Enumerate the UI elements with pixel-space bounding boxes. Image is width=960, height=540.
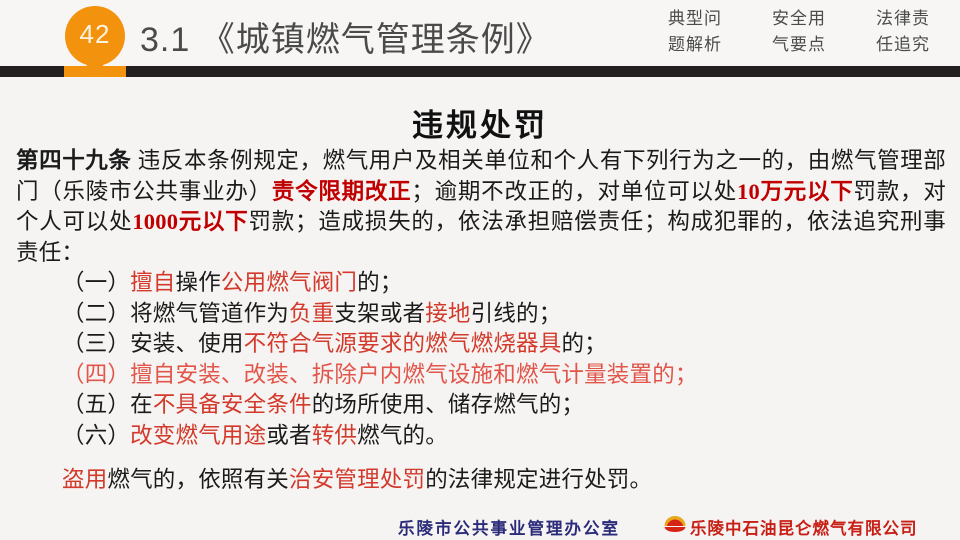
header-tab-group: 典型问 题解析 安全用 气要点 法律责 任追究 — [652, 6, 946, 58]
violation-item: （六）改变燃气用途或者转供燃气的。 — [16, 421, 946, 452]
violation-item-segment: 不符合气源要求的燃气燃烧器具 — [244, 331, 562, 356]
violation-item-segment: 操作 — [176, 270, 221, 295]
closing-statement: 盗用燃气的，依照有关治安管理处罚的法律规定进行处罚。 — [16, 465, 946, 496]
violation-item: （三）安装、使用不符合气源要求的燃气燃烧器具的； — [16, 329, 946, 360]
violation-item-segment: 的； — [357, 270, 402, 295]
article-paragraph: 第四十九条 违反本条例规定，燃气用户及相关单位和个人有下列行为之一的，由燃气管理… — [16, 146, 946, 268]
slide-body: 第四十九条 违反本条例规定，燃气用户及相关单位和个人有下列行为之一的，由燃气管理… — [16, 146, 946, 496]
violation-item: （一）擅自操作公用燃气阀门的； — [16, 268, 946, 299]
violation-item-segment: 擅自 — [130, 270, 175, 295]
closing-segment: 的法律规定进行处罚。 — [425, 467, 652, 492]
violation-item: （四）擅自安装、改装、拆除户内燃气设施和燃气计量装置的； — [16, 360, 946, 391]
slide-number-pin-icon: 42 — [65, 6, 125, 68]
violation-item-segment: 支架或者 — [334, 301, 425, 326]
violation-item-segment: 安装、使用 — [130, 331, 244, 356]
tab-typical-questions-line1: 典型问 — [652, 6, 738, 32]
violation-item-segment: 在 — [130, 392, 153, 417]
article-seg3: ；逾期不改正的，对单位可以处 — [411, 179, 737, 204]
tab-legal-liability-line1: 法律责 — [860, 6, 946, 32]
violation-item-number: （二） — [62, 301, 130, 326]
closing-segment: 盗用 — [62, 467, 107, 492]
violation-item-number: （三） — [62, 331, 130, 356]
violation-item-segment: 的； — [561, 331, 606, 356]
tab-legal-liability-line2: 任追究 — [860, 32, 946, 58]
page-title: 3.1 《城镇燃气管理条例》 — [140, 12, 551, 61]
petrochina-logo-icon — [663, 514, 687, 534]
violation-item-number: （五） — [62, 392, 130, 417]
slide-header: 42 3.1 《城镇燃气管理条例》 典型问 题解析 安全用 气要点 法律责 任追… — [0, 0, 960, 77]
tab-typical-questions-line2: 题解析 — [652, 32, 738, 58]
violation-item-segment: 改变燃气用途 — [130, 423, 266, 448]
violation-item-segment: 燃气的。 — [357, 423, 448, 448]
violation-item-segment: 不具备安全条件 — [153, 392, 312, 417]
violation-item-segment: 公用燃气阀门 — [221, 270, 357, 295]
tab-legal-liability[interactable]: 法律责 任追究 — [860, 6, 946, 58]
violation-item-number: （六） — [62, 423, 130, 448]
violation-item: （五）在不具备安全条件的场所使用、储存燃气的； — [16, 390, 946, 421]
closing-segment: 治安管理处罚 — [289, 467, 425, 492]
tab-safe-gas-use[interactable]: 安全用 气要点 — [756, 6, 842, 58]
violation-item-segment: 擅自安装、改装、拆除户内燃气设施和燃气计量装置的； — [130, 362, 698, 387]
slide-number-label: 42 — [65, 6, 125, 62]
slide-footer: 乐陵市公共事业管理办公室 乐陵中石油昆仑燃气有限公司 — [0, 506, 960, 540]
content-spacer — [16, 451, 946, 465]
tab-typical-questions[interactable]: 典型问 题解析 — [652, 6, 738, 58]
violation-item-segment: 引线的； — [471, 301, 562, 326]
article-seg2-highlight: 责令限期改正 — [272, 179, 412, 204]
violation-item-segment: 或者 — [266, 423, 311, 448]
section-title: 违规处罚 — [0, 100, 960, 145]
violation-item-number: （一） — [62, 270, 130, 295]
tab-safe-gas-use-line2: 气要点 — [756, 32, 842, 58]
violation-item-segment: 将燃气管道作为 — [130, 301, 289, 326]
tab-safe-gas-use-line1: 安全用 — [756, 6, 842, 32]
violation-item-number: （四） — [62, 362, 130, 387]
article-seg4-highlight: 10万元以下 — [737, 179, 854, 204]
article-label: 第四十九条 — [16, 148, 132, 173]
violation-item-segment: 转供 — [312, 423, 357, 448]
violation-item: （二）将燃气管道作为负重支架或者接地引线的； — [16, 299, 946, 330]
footer-left-org: 乐陵市公共事业管理办公室 — [398, 515, 620, 539]
footer-right-org: 乐陵中石油昆仑燃气有限公司 — [690, 515, 918, 539]
violation-item-segment: 的场所使用、储存燃气的； — [312, 392, 584, 417]
violation-item-list: （一）擅自操作公用燃气阀门的；（二）将燃气管道作为负重支架或者接地引线的；（三）… — [16, 268, 946, 451]
article-seg6-highlight: 1000元以下 — [132, 209, 248, 234]
violation-item-segment: 负重 — [289, 301, 334, 326]
closing-segment: 燃气的，依照有关 — [107, 467, 289, 492]
header-dark-bar — [0, 66, 960, 77]
violation-item-segment: 接地 — [425, 301, 470, 326]
slide-root: 42 3.1 《城镇燃气管理条例》 典型问 题解析 安全用 气要点 法律责 任追… — [0, 0, 960, 540]
